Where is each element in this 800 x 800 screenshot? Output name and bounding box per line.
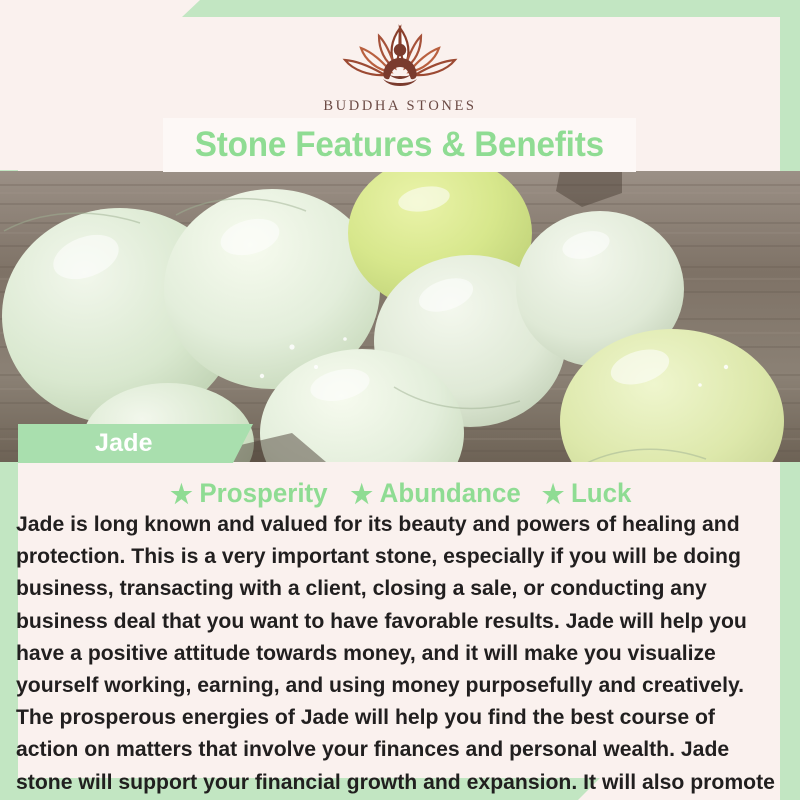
benefit-label: Abundance [379,478,520,509]
benefit-item-abundance: ★ Abundance [350,478,520,509]
star-icon: ★ [350,481,372,507]
stone-description: Jade is long known and valued for its be… [16,508,776,800]
infographic-page: BUDDHA STONES Stone Features & Benefits [0,0,800,800]
benefit-label: Prosperity [199,478,327,509]
benefit-label: Luck [571,478,632,509]
star-icon: ★ [542,481,564,507]
benefit-item-prosperity: ★ Prosperity [170,478,327,509]
stone-label-band: Jade [18,424,253,463]
title-banner: Stone Features & Benefits [163,118,636,172]
stone-name: Jade [95,429,153,458]
star-icon: ★ [170,481,192,507]
hero-image [0,171,800,462]
decor-band-top [0,0,800,17]
benefits-row: ★ Prosperity ★ Abundance ★ Luck [0,478,800,509]
page-title: Stone Features & Benefits [195,125,604,165]
brand-name: BUDDHA STONES [323,98,476,115]
brand-logo: BUDDHA STONES [0,22,800,115]
lotus-meditation-icon [325,22,475,94]
benefit-item-luck: ★ Luck [542,478,632,509]
jade-stones-photo [0,171,800,462]
